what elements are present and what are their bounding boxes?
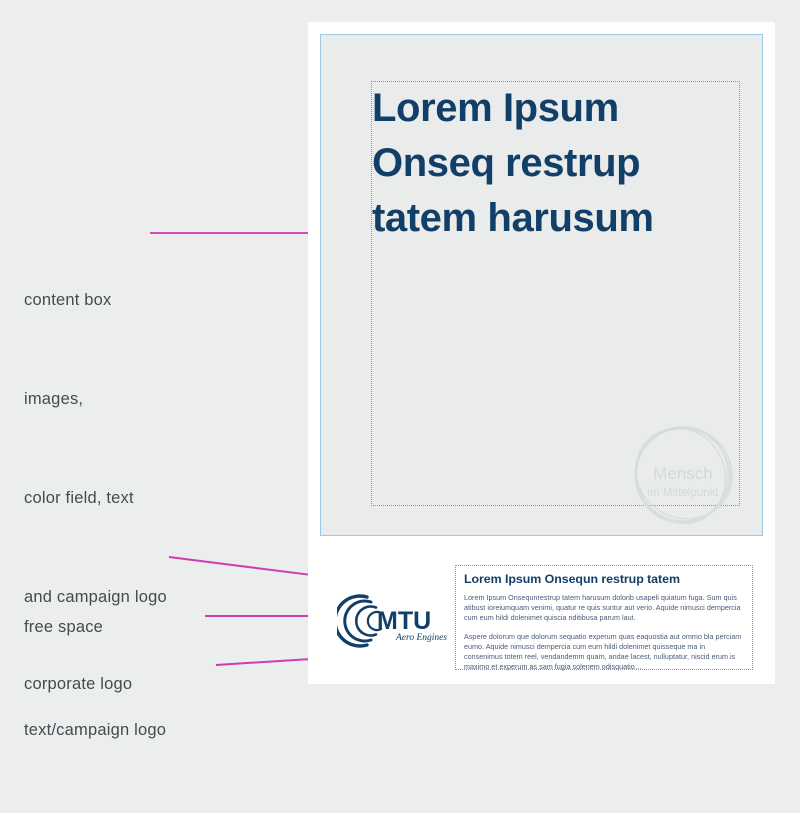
annotation-line: text/campaign logo xyxy=(24,714,166,747)
corporate-logo-tagline: Aero Engines xyxy=(395,633,447,643)
campaign-logo-line1: Mensch xyxy=(653,464,713,483)
page-sheet: Lorem Ipsum Onseq restrup tatem harusum … xyxy=(308,22,775,684)
diagram-canvas: content box images, color field, text an… xyxy=(0,0,800,717)
footer-text-block: Lorem Ipsum Onsequn restrup tatem Lorem … xyxy=(455,565,753,670)
corporate-logo-wordmark: MTU xyxy=(377,607,431,635)
footer-text-title: Lorem Ipsum Onsequn restrup tatem xyxy=(464,572,744,586)
annotation-line: images, xyxy=(24,383,167,416)
annotation-text-campaign-logo: text/campaign logo xyxy=(24,648,166,813)
headline: Lorem Ipsum Onseq restrup tatem harusum xyxy=(372,81,752,246)
annotation-line: color field, text xyxy=(24,482,167,515)
annotation-line: content box xyxy=(24,284,167,317)
headline-line: Lorem Ipsum xyxy=(372,81,752,136)
campaign-logo-watermark: Mensch im Mittelpunkt xyxy=(624,416,742,534)
headline-line: Onseq restrup xyxy=(372,136,752,191)
footer-text-paragraph: Lorem Ipsum Onsequnrestrup tatem harusum… xyxy=(464,593,744,624)
footer-text-paragraph: Aspere dolorum que dolorum sequatio expe… xyxy=(464,632,744,673)
headline-line: tatem harusum xyxy=(372,191,752,246)
campaign-logo-line2: im Mittelpunkt xyxy=(648,487,720,499)
corporate-logo: MTU Aero Engines xyxy=(337,593,450,649)
content-box: Lorem Ipsum Onseq restrup tatem harusum … xyxy=(320,34,763,536)
